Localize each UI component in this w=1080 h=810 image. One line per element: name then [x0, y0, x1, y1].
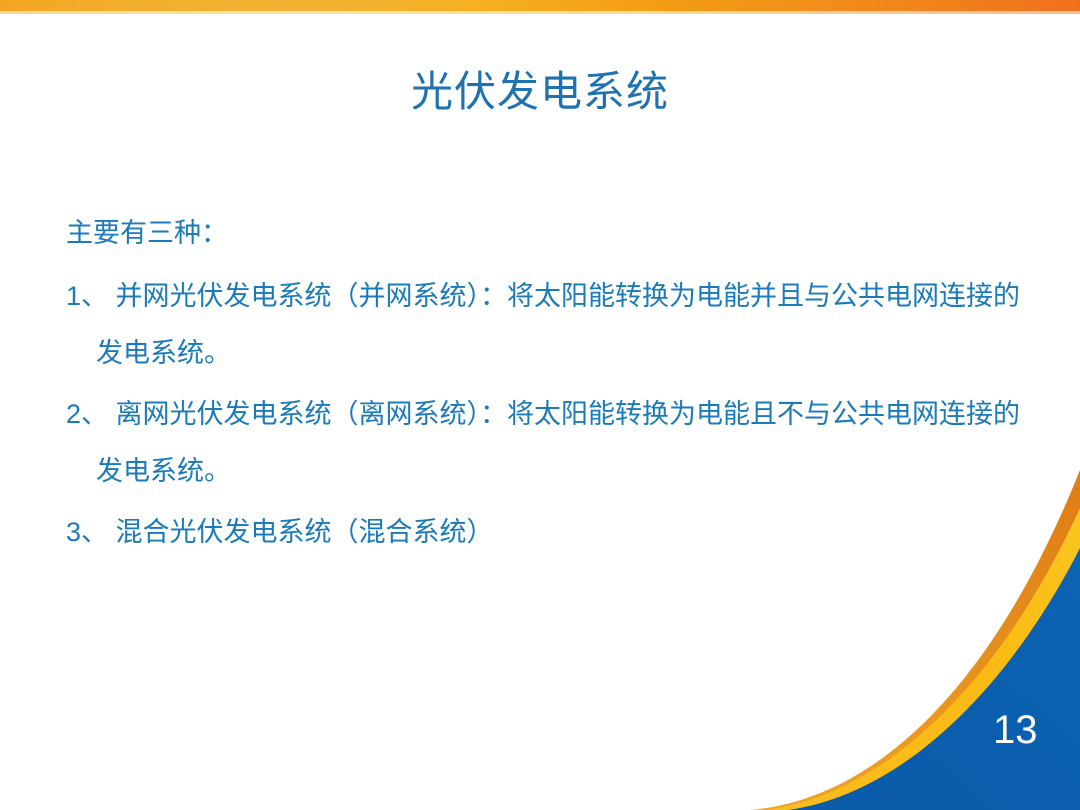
content-body: 主要有三种： 1、 并网光伏发电系统（并网系统）：将太阳能转换为电能并且与公共电…: [66, 205, 1026, 565]
slide: 光伏发电系统 主要有三种： 1、 并网光伏发电系统（并网系统）：将太阳能转换为电…: [0, 0, 1080, 810]
list-item: 3、 混合光伏发电系统（混合系统）: [66, 504, 1026, 561]
swoosh-blue-body: [788, 548, 1080, 810]
top-accent-bar-shadow: [0, 11, 1080, 14]
page-number: 13: [993, 708, 1038, 752]
lead-text: 主要有三种：: [66, 205, 1026, 262]
top-accent-bar: [0, 0, 1080, 11]
list-item: 2、 离网光伏发电系统（离网系统）：将太阳能转换为电能且不与公共电网连接的发电系…: [66, 386, 1026, 500]
list-item: 1、 并网光伏发电系统（并网系统）：将太阳能转换为电能并且与公共电网连接的发电系…: [66, 268, 1026, 382]
page-title: 光伏发电系统: [0, 66, 1080, 118]
